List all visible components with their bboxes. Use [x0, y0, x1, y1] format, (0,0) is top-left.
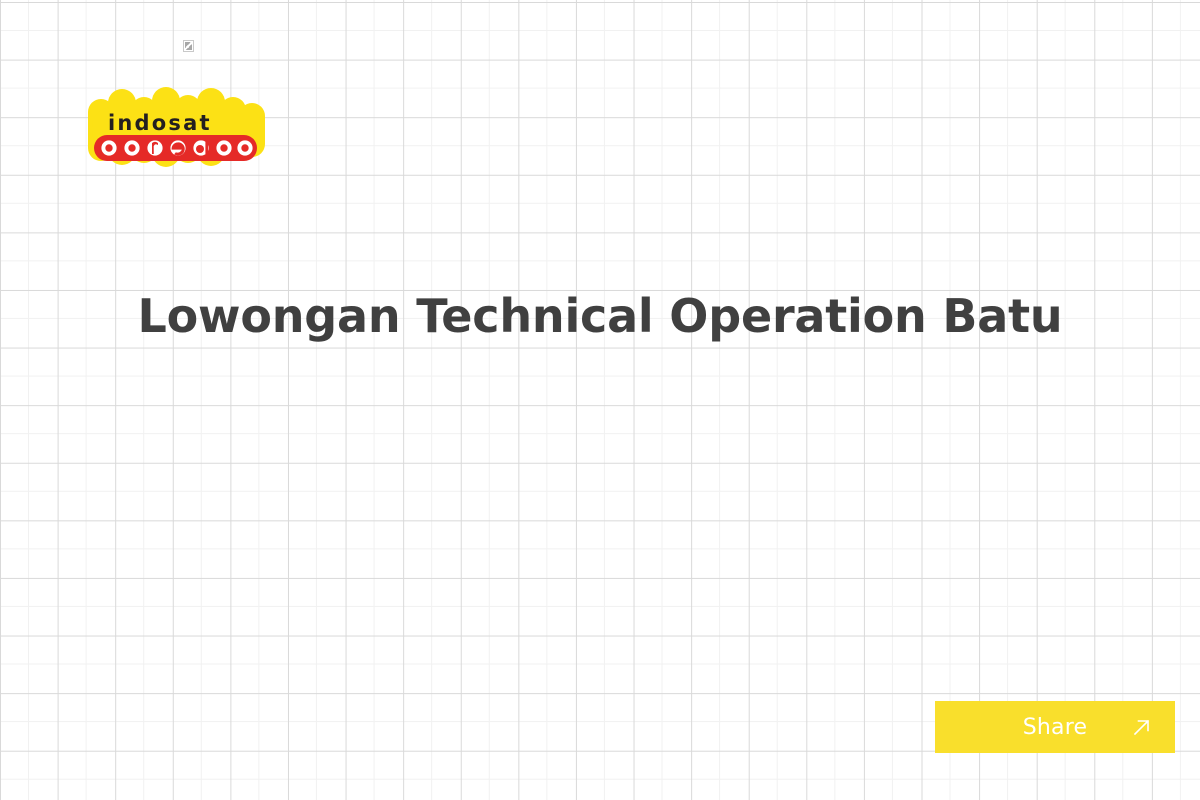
indosat-ooredoo-logo: indosat: [86, 83, 268, 173]
logo-wordmark-ooredoo: [94, 135, 257, 161]
share-button[interactable]: Share: [935, 701, 1175, 753]
page-title-line-2: Batu: [942, 289, 1062, 343]
page-title-line-1: Lowongan Technical Operation: [138, 289, 927, 343]
share-button-label: Share: [1023, 715, 1088, 740]
arrow-up-right-icon: [1131, 716, 1153, 738]
page-canvas: indosat: [0, 0, 1200, 800]
broken-image-icon: [183, 40, 194, 52]
page-title: Lowongan Technical Operation Batu: [100, 277, 1100, 356]
logo-wordmark-indosat: indosat: [108, 111, 212, 135]
